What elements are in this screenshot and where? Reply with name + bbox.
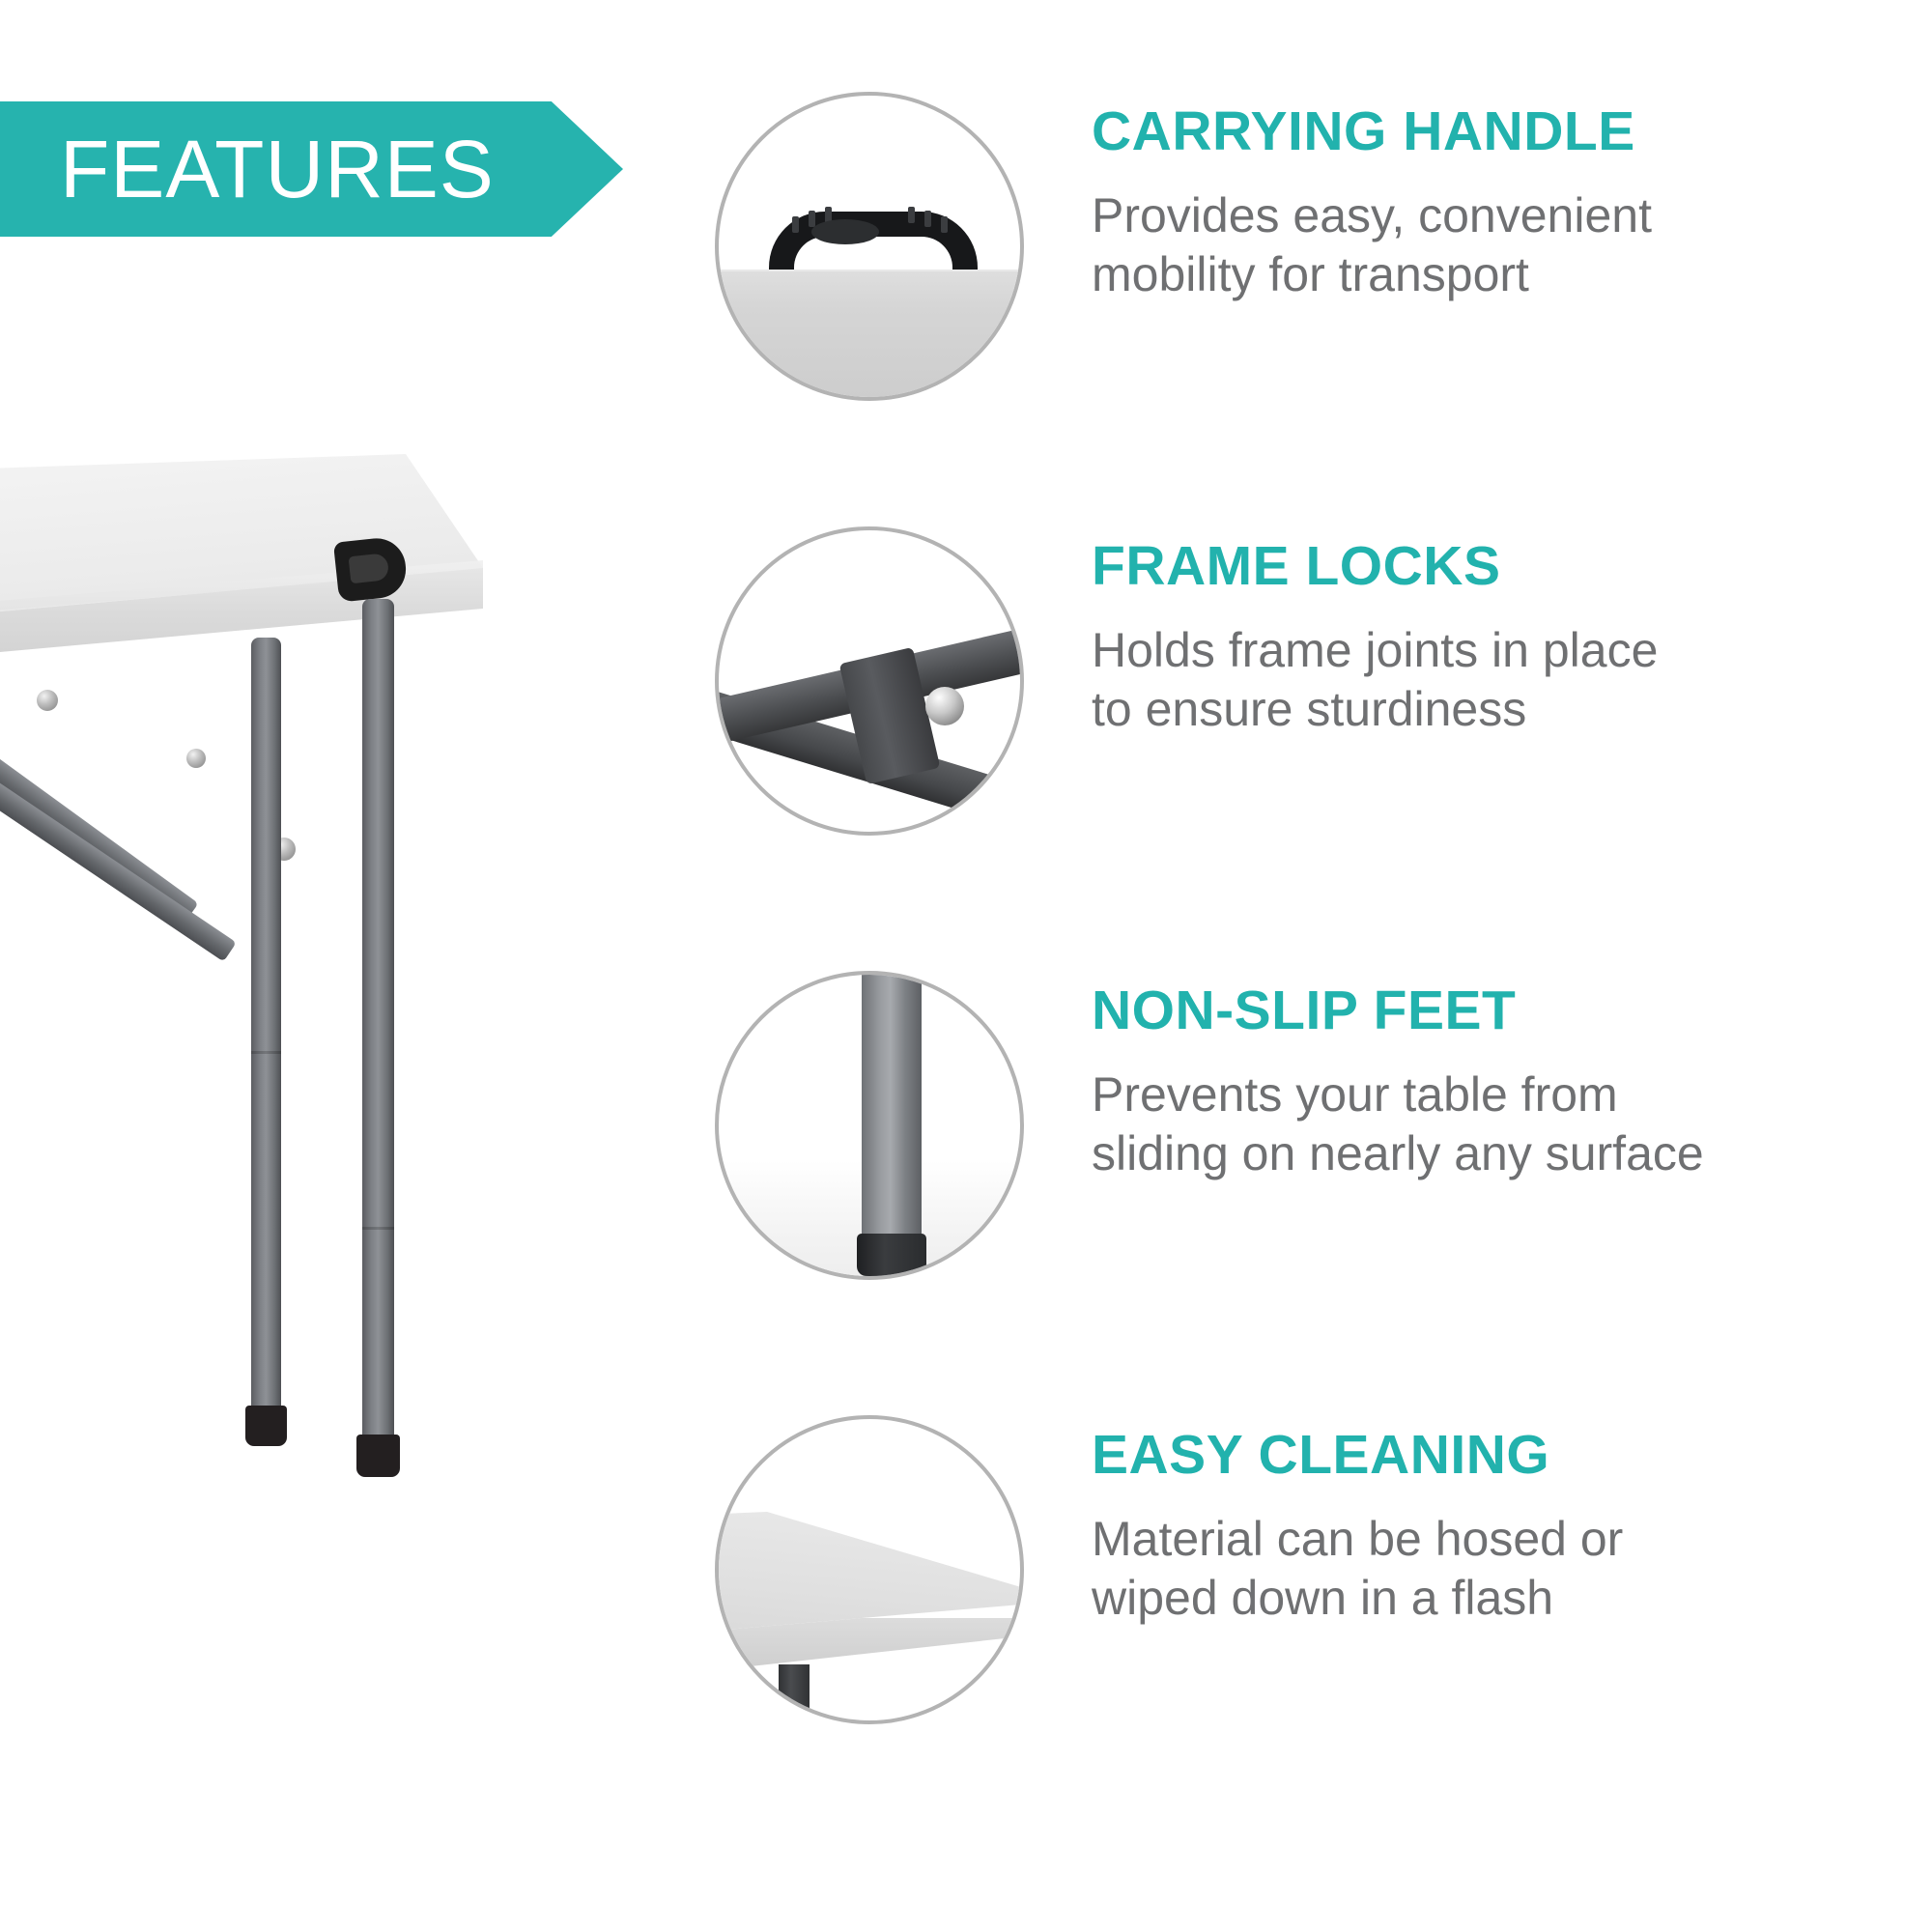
carrying-handle-icon — [715, 92, 1024, 401]
table-foot-front — [245, 1406, 287, 1446]
handle-ridge — [792, 216, 799, 233]
feature-description-line: sliding on nearly any surface — [1092, 1124, 1913, 1183]
features-banner: FEATURES — [0, 101, 623, 237]
feature-row-carrying-handle: CARRYING HANDLE Provides easy, convenien… — [715, 92, 1913, 459]
table-leg-front — [251, 638, 281, 1420]
leg-seam-front — [251, 1051, 281, 1054]
table-foot-back — [356, 1435, 400, 1477]
features-infographic: FEATURES C — [0, 0, 1932, 1932]
feature-description: Material can be hosed or wiped down in a… — [1092, 1510, 1913, 1628]
feature-row-non-slip-feet: NON-SLIP FEET Prevents your table from s… — [715, 971, 1913, 1338]
brace-rivet-upper — [37, 690, 58, 711]
handle-grip-pad — [811, 219, 879, 244]
feature-description-line: to ensure sturdiness — [1092, 680, 1913, 739]
feature-text-block: EASY CLEANING Material can be hosed or w… — [1092, 1427, 1913, 1628]
feature-title: EASY CLEANING — [1092, 1427, 1913, 1485]
feature-row-easy-cleaning: EASY CLEANING Material can be hosed or w… — [715, 1415, 1913, 1782]
tabletop-edge-profile — [715, 1618, 1024, 1695]
non-slip-rubber-foot — [857, 1234, 926, 1276]
leg-seam-back — [362, 1227, 394, 1230]
folding-brace-upper — [0, 659, 199, 923]
feature-text-block: FRAME LOCKS Holds frame joints in place … — [1092, 538, 1913, 739]
table-edge-icon — [715, 1415, 1024, 1724]
product-photo-folding-table — [0, 454, 502, 1517]
non-slip-foot-icon — [715, 971, 1024, 1280]
feature-text-block: CARRYING HANDLE Provides easy, convenien… — [1092, 103, 1913, 304]
table-leg-back — [362, 599, 394, 1449]
feature-description-line: Holds frame joints in place — [1092, 621, 1913, 680]
feature-description-line: Provides easy, convenient — [1092, 186, 1913, 245]
feature-description-line: Material can be hosed or — [1092, 1510, 1913, 1569]
brace-rivet-lower — [186, 749, 206, 768]
feature-text-block: NON-SLIP FEET Prevents your table from s… — [1092, 982, 1913, 1183]
frame-lock-rivet — [925, 687, 964, 725]
feature-row-frame-locks: FRAME LOCKS Holds frame joints in place … — [715, 526, 1913, 894]
handle-ridge — [924, 211, 931, 227]
feature-description: Holds frame joints in place to ensure st… — [1092, 621, 1913, 739]
handle-ridge — [908, 207, 915, 223]
feature-description-line: Prevents your table from — [1092, 1065, 1913, 1124]
table-leg-tube — [862, 971, 922, 1239]
feature-description: Provides easy, convenient mobility for t… — [1092, 186, 1913, 304]
feature-title: CARRYING HANDLE — [1092, 103, 1913, 161]
handle-ridge — [809, 211, 815, 227]
feature-title: NON-SLIP FEET — [1092, 982, 1913, 1040]
banner-label: FEATURES — [60, 101, 495, 237]
folding-brace-lower — [0, 699, 237, 962]
feature-title: FRAME LOCKS — [1092, 538, 1913, 596]
frame-lock-icon — [715, 526, 1024, 836]
handle-ridge — [941, 216, 948, 233]
tabletop-slab — [715, 271, 1024, 397]
feature-description: Prevents your table from sliding on near… — [1092, 1065, 1913, 1183]
feature-description-line: mobility for transport — [1092, 245, 1913, 304]
table-leg-tube — [779, 1664, 810, 1724]
feature-description-line: wiped down in a flash — [1092, 1569, 1913, 1628]
